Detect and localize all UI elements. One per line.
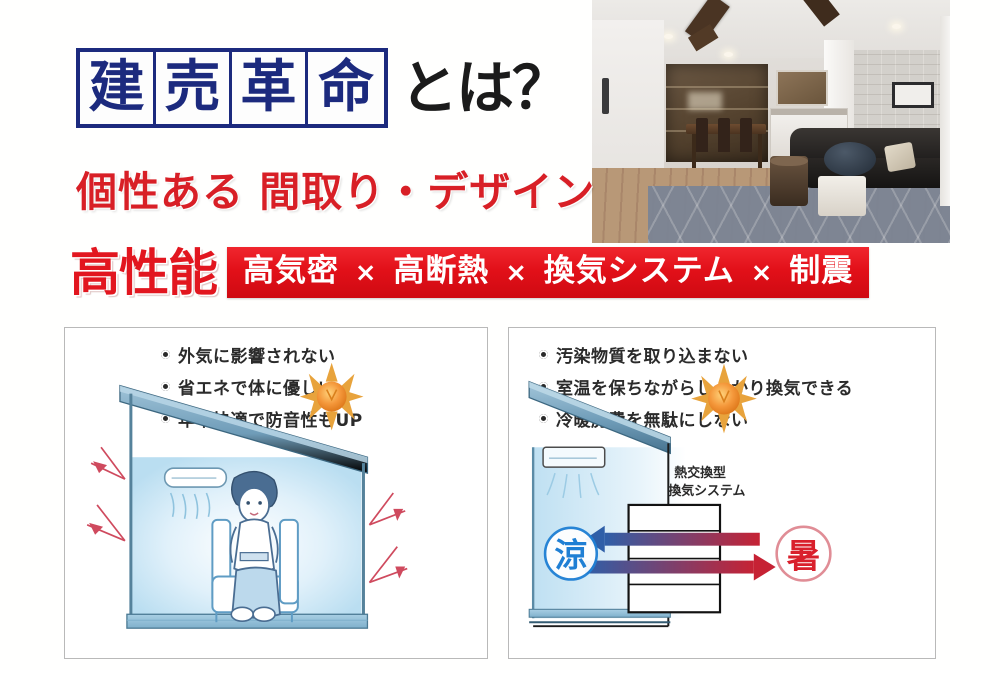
title-suffix: とは？	[400, 59, 568, 117]
photo-alcove	[666, 64, 768, 162]
heat-exchanger-core	[629, 505, 720, 612]
heat-deflection-arrows-right	[369, 493, 407, 582]
performance-item-2: 高断熱	[393, 253, 489, 289]
performance-separator-1: ×	[351, 258, 382, 288]
subtitle-tagline: 個性ある 間取り・デザイン	[76, 158, 595, 218]
insulation-illustration	[65, 328, 487, 658]
photo-dining-chair	[696, 118, 708, 152]
performance-separator-3: ×	[747, 258, 778, 288]
sun-icon	[691, 364, 757, 434]
sun-icon	[300, 363, 364, 431]
footer-strip	[0, 670, 1000, 678]
performance-banner: 高気密 × 高断熱 × 換気システム × 制震	[227, 247, 869, 298]
photo-downlight	[892, 24, 901, 29]
photo-right-wall	[940, 16, 950, 206]
photo-side-table	[818, 176, 866, 216]
photo-wall-frame	[892, 82, 934, 108]
title-kanji-cell-1: 建	[80, 52, 156, 124]
system-label-line1: 熱交換型	[674, 465, 726, 481]
title-kanji-cell-3: 革	[232, 52, 308, 124]
photo-dining-chair	[740, 118, 752, 152]
title-kanji-cell-4: 命	[308, 52, 384, 124]
title-boxed-kanji-group: 建 売 革 命	[76, 48, 388, 128]
performance-separator-2: ×	[501, 258, 532, 288]
hot-badge: 暑	[777, 527, 831, 581]
photo-dining-chair	[718, 118, 730, 152]
photo-ottoman	[824, 142, 876, 176]
performance-item-4: 制震	[789, 253, 853, 289]
performance-item-3: 換気システム	[544, 253, 735, 289]
ventilation-illustration: 熱交換型 換気システム 涼 暑	[509, 328, 935, 658]
performance-item-1: 高気密	[243, 253, 339, 289]
performance-row: 高性能 高気密 × 高断熱 × 換気システム × 制震	[70, 247, 869, 298]
performance-label: 高性能	[70, 248, 217, 298]
cool-badge: 涼	[545, 528, 597, 580]
photo-downlight	[664, 34, 673, 39]
insulation-panel: 外気に影響されない 省エネで体に優しい 年中快適で防音性もUP	[64, 327, 488, 659]
system-label-line2: 換気システム	[668, 483, 745, 499]
photo-door-handle	[602, 78, 609, 114]
photo-side-drum-table	[770, 156, 808, 206]
roof-shape	[529, 382, 670, 454]
ventilation-panel: 汚染物質を取り込まない 室温を保ちながらしっかり換気できる 冷暖房費を無駄にしな…	[508, 327, 936, 659]
page-title: 建 売 革 命 とは？	[76, 48, 568, 128]
svg-text:暑: 暑	[787, 537, 821, 576]
heat-deflection-arrows-left	[87, 447, 125, 540]
title-kanji-cell-2: 売	[156, 52, 232, 124]
photo-downlight	[724, 52, 733, 57]
living-room-interior-photo	[592, 0, 950, 243]
photo-mirror	[776, 70, 828, 106]
svg-text:涼: 涼	[555, 537, 588, 575]
